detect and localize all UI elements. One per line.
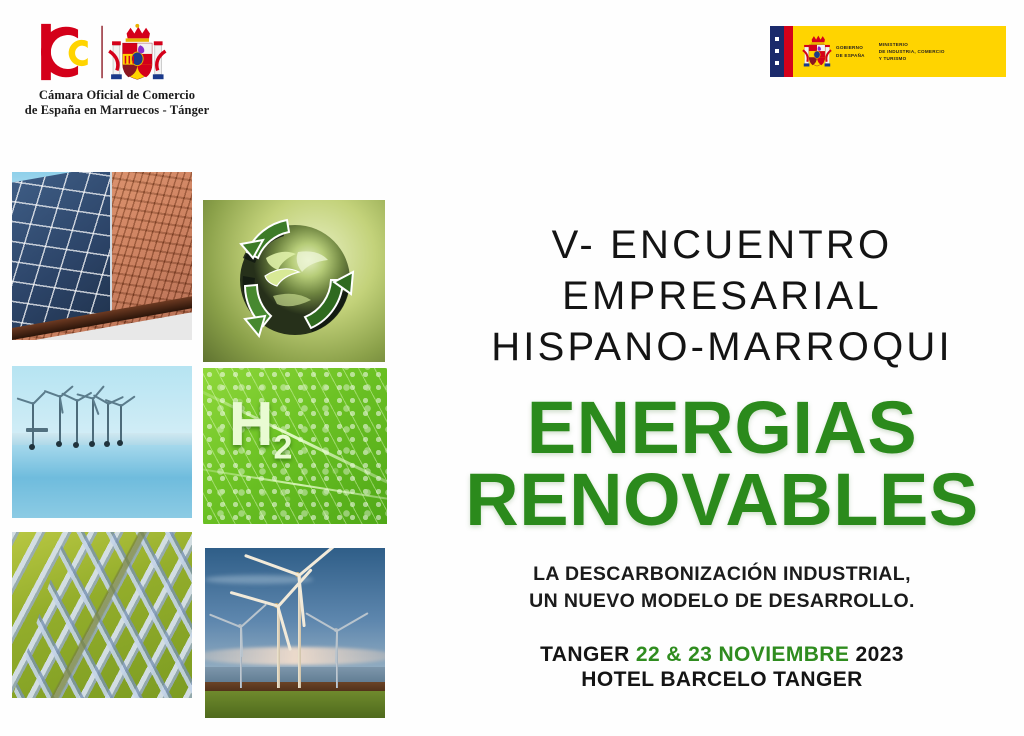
gobierno-banner-texts: GOBIERNO DE ESPAÑA MINISTERIO DE INDUSTR… <box>834 26 1006 77</box>
photo-aerial-solar-farm <box>12 532 192 698</box>
photo-onshore-wind-turbines <box>205 548 385 718</box>
photo-offshore-wind-farm <box>12 366 192 518</box>
theme-line1: ENERGIAS <box>420 392 1024 465</box>
gobierno-line1: GOBIERNO <box>836 44 865 51</box>
gobierno-de-espana-text: GOBIERNO DE ESPAÑA <box>836 44 865 58</box>
ministerio-text: MINISTERIO DE INDUSTRIA, COMERCIO Y TURI… <box>879 41 945 62</box>
camara-caption-line2: de España en Marruecos - Tánger <box>12 103 222 118</box>
gobierno-de-espana-ministerio-logo: GOBIERNO DE ESPAÑA MINISTERIO DE INDUSTR… <box>770 26 1006 77</box>
venue-hotel: HOTEL BARCELO TANGER <box>420 667 1024 692</box>
subtitle-line1: LA DESCARBONIZACIÓN INDUSTRIAL, <box>420 561 1024 589</box>
camara-oficial-de-comercio-logo: Cámara Oficial de Comercio de España en … <box>12 18 222 119</box>
recycle-globe-icon <box>203 200 385 362</box>
headline-line3: HISPANO-MARROQUI <box>420 322 1024 373</box>
venue-city: TANGER <box>540 643 630 666</box>
headline-line2: EMPRESARIAL <box>420 271 1024 322</box>
photo-solar-panels-roof <box>12 172 192 340</box>
camara-logo-caption: Cámara Oficial de Comercio de España en … <box>12 88 222 119</box>
camara-logo-mark <box>12 18 216 86</box>
spanish-flag-strip-icon <box>770 26 800 77</box>
spain-coat-of-arms-icon <box>800 26 834 77</box>
photo-green-globe-recycle <box>203 200 385 362</box>
h2-symbol-label: H2 <box>229 396 293 464</box>
subtitle-line2: UN NUEVO MODELO DE DESARROLLO. <box>420 588 1024 616</box>
event-venue-and-date: TANGER 22 & 23 NOVIEMBRE 2023 HOTEL BARC… <box>420 642 1024 692</box>
venue-dates: 22 & 23 NOVIEMBRE <box>636 643 849 666</box>
event-headline: V- ENCUENTRO EMPRESARIAL HISPANO-MARROQU… <box>420 220 1024 374</box>
gobierno-line2: DE ESPAÑA <box>836 52 865 59</box>
camara-caption-line1: Cámara Oficial de Comercio <box>12 88 222 103</box>
ministerio-line2: DE INDUSTRIA, COMERCIO <box>879 48 945 55</box>
poster-text-content: V- ENCUENTRO EMPRESARIAL HISPANO-MARROQU… <box>420 220 1024 692</box>
ministerio-line1: MINISTERIO <box>879 41 945 48</box>
headline-line1: V- ENCUENTRO <box>420 220 1024 271</box>
event-subtitle: LA DESCARBONIZACIÓN INDUSTRIAL, UN NUEVO… <box>420 561 1024 616</box>
event-poster: Cámara Oficial de Comercio de España en … <box>0 0 1024 736</box>
photo-h2-green-leaf: H2 <box>203 368 387 524</box>
spain-coat-of-arms-icon <box>109 24 165 79</box>
theme-line2: RENOVABLES <box>420 464 1024 537</box>
venue-year: 2023 <box>856 643 904 666</box>
ministerio-line3: Y TURISMO <box>879 55 945 62</box>
event-theme-title: ENERGIAS RENOVABLES <box>420 392 1024 537</box>
venue-date-line: TANGER 22 & 23 NOVIEMBRE 2023 <box>420 642 1024 667</box>
